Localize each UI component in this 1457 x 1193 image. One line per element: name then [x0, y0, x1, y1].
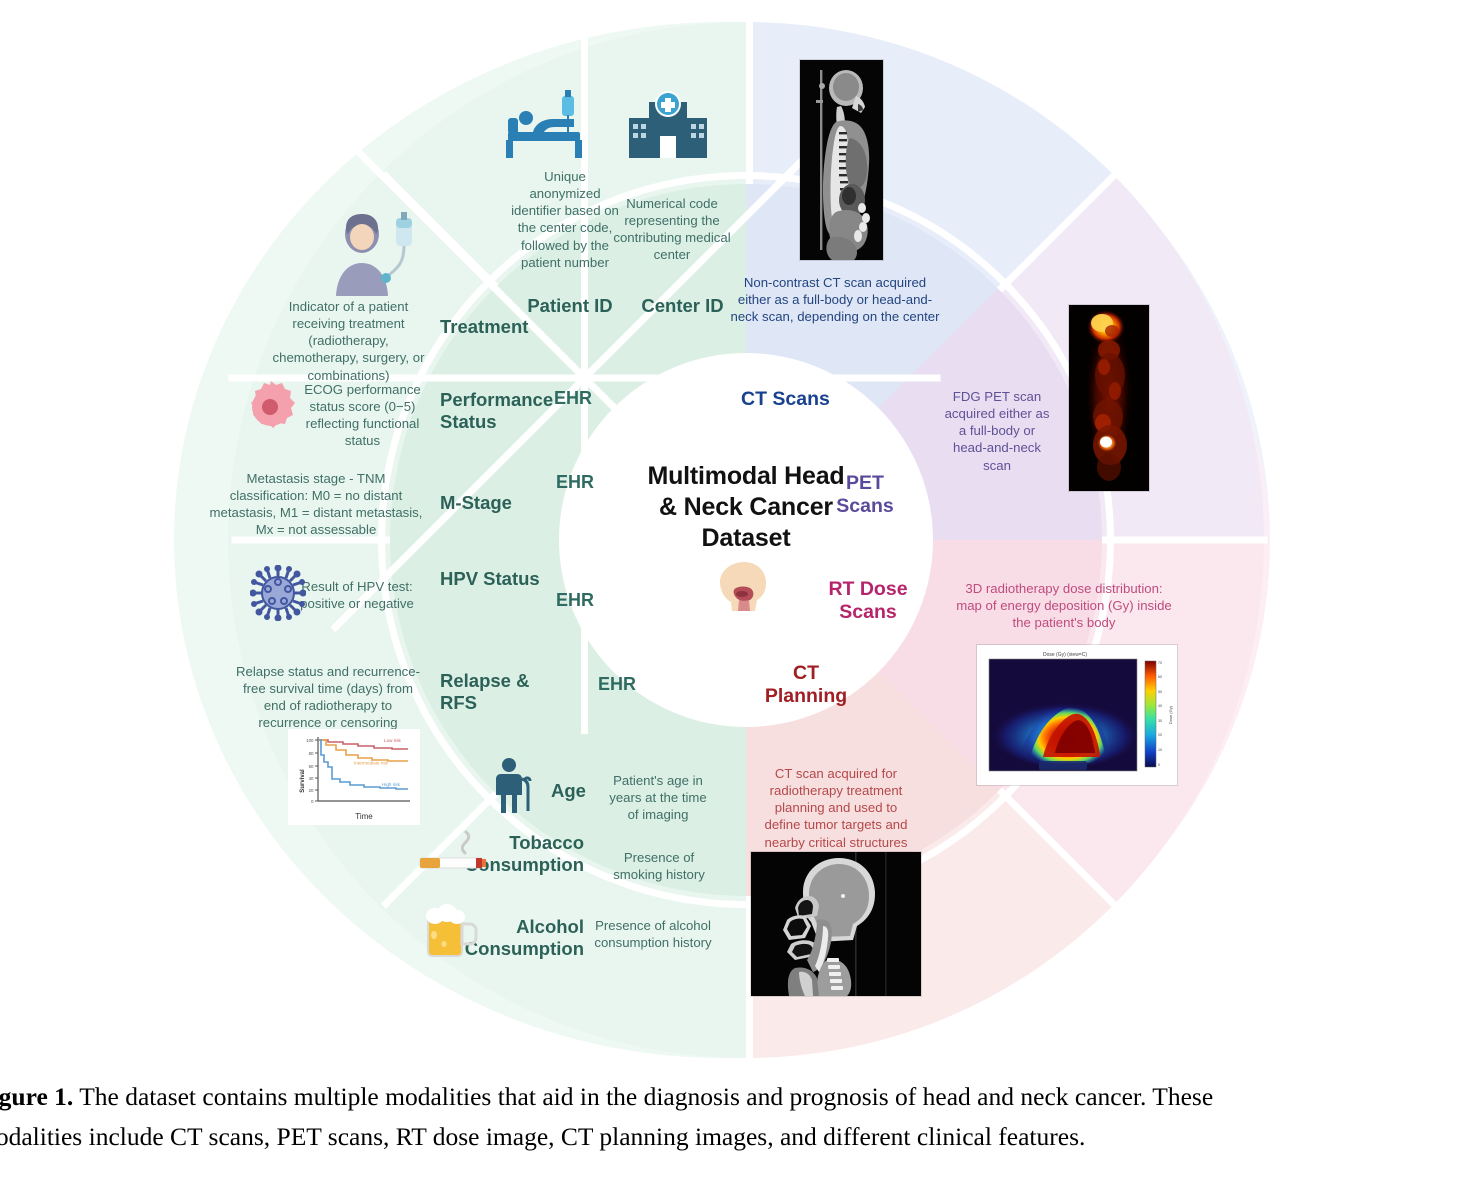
- svg-text:10: 10: [1158, 748, 1162, 752]
- ehr-label-bottom: EHR: [567, 674, 667, 695]
- category-label-performance-status: Performance Status: [440, 389, 590, 433]
- hospital-icon: [625, 90, 711, 165]
- description-hpv-status: Result of HPV test: positive or negative: [296, 578, 418, 612]
- caption-line-2: modalities include CT scans, PET scans, …: [0, 1122, 1085, 1151]
- patient-bed-icon: [500, 88, 592, 165]
- description-pet-scans: FDG PET scan acquired either as a full-b…: [944, 388, 1050, 474]
- cell-icon: [243, 379, 299, 440]
- category-label-hpv-status: HPV Status: [440, 568, 550, 590]
- svg-text:30: 30: [1158, 719, 1162, 723]
- svg-text:80: 80: [309, 751, 314, 756]
- center-hub-content: Multimodal Head & Neck Cancer Dataset: [566, 360, 926, 720]
- elderly-person-icon: [491, 757, 539, 818]
- fdg-pet-scan: [1069, 305, 1149, 491]
- description-alcohol-consumption: Presence of alcohol consumption history: [588, 917, 718, 951]
- description-ct-planning: CT scan acquired for radiotherapy treatm…: [756, 765, 916, 851]
- hub-title-line2: & Neck Cancer: [659, 492, 833, 523]
- svg-text:Dose (Gy): Dose (Gy): [1168, 705, 1173, 724]
- sunburst-wheel: Multimodal Head & Neck Cancer Dataset: [228, 22, 1264, 1058]
- category-label-ct-scans: CT Scans: [741, 388, 901, 411]
- caption-line-1: The dataset contains multiple modalities…: [79, 1082, 1213, 1111]
- description-ct-scans: Non-contrast CT scan acquired either as …: [728, 274, 942, 325]
- rt-dose-title: Dose (Gy) (view=C): [1043, 652, 1087, 658]
- svg-text:100: 100: [306, 738, 314, 743]
- figure-canvas: Multimodal Head & Neck Cancer Dataset EH…: [0, 0, 1457, 1065]
- hub-title-line3: Dataset: [702, 523, 791, 554]
- svg-text:20: 20: [1158, 733, 1162, 737]
- svg-text:High risk: High risk: [382, 782, 401, 787]
- ehr-label-lower-left: EHR: [525, 590, 625, 611]
- category-label-pet-scans: PET Scans: [826, 472, 904, 518]
- description-rt-dose-scans: 3D radiotherapy dose distribution: map o…: [955, 580, 1173, 631]
- description-m-stage: Metastasis stage - TNM classification: M…: [207, 470, 425, 539]
- description-patient-id: Unique anonymized identifier based on th…: [509, 168, 621, 271]
- category-label-m-stage: M-Stage: [440, 492, 590, 514]
- svg-text:60: 60: [309, 764, 314, 769]
- svg-text:40: 40: [1158, 704, 1162, 708]
- patient-iv-drip-icon: [322, 212, 426, 301]
- head-neck-planning-ct-scan: [751, 852, 921, 996]
- description-center-id: Numerical code representing the contribu…: [612, 195, 732, 264]
- svg-text:50: 50: [1158, 690, 1162, 694]
- beer-mug-icon: [420, 902, 480, 963]
- ehr-label-upper-left: EHR: [525, 472, 625, 493]
- category-label-rt-dose-scans: RT Dose Scans: [818, 578, 918, 624]
- cigarette-icon: [416, 828, 490, 881]
- category-label-treatment: Treatment: [440, 316, 620, 338]
- head-neck-anatomy-icon: [714, 558, 778, 619]
- sagittal-full-body-ct-scan: [800, 60, 883, 260]
- survival-curve-chart: 10080 6040 200 Survival Time Low risk In…: [288, 729, 420, 830]
- description-age: Patient's age in years at the time of im…: [603, 772, 713, 823]
- virus-icon: [250, 565, 306, 626]
- category-label-relapse-rfs: Relapse & RFS: [440, 670, 550, 714]
- svg-text:Intermediate risk: Intermediate risk: [354, 761, 389, 766]
- description-treatment: Indicator of a patient receiving treatme…: [267, 298, 430, 384]
- caption-label: Figure 1.: [0, 1082, 73, 1111]
- svg-text:Survival: Survival: [300, 769, 306, 793]
- svg-text:0: 0: [1158, 763, 1160, 767]
- description-performance-status: ECOG performance status score (0−5) refl…: [300, 381, 425, 450]
- svg-text:Low risk: Low risk: [384, 738, 402, 743]
- svg-text:Time: Time: [355, 812, 373, 821]
- category-label-ct-planning: CT Planning: [756, 662, 856, 708]
- svg-text:60: 60: [1158, 675, 1162, 679]
- svg-text:20: 20: [309, 788, 314, 793]
- svg-text:40: 40: [309, 776, 314, 781]
- hub-title-line1: Multimodal Head: [647, 461, 844, 492]
- description-relapse-rfs: Relapse status and recurrence-free survi…: [232, 663, 424, 732]
- rt-dose-heatmap: Dose (Gy) (view=C) 706050 403020 100 Dos…: [977, 645, 1177, 785]
- svg-text:70: 70: [1158, 661, 1162, 665]
- description-tobacco-consumption: Presence of smoking history: [600, 849, 718, 883]
